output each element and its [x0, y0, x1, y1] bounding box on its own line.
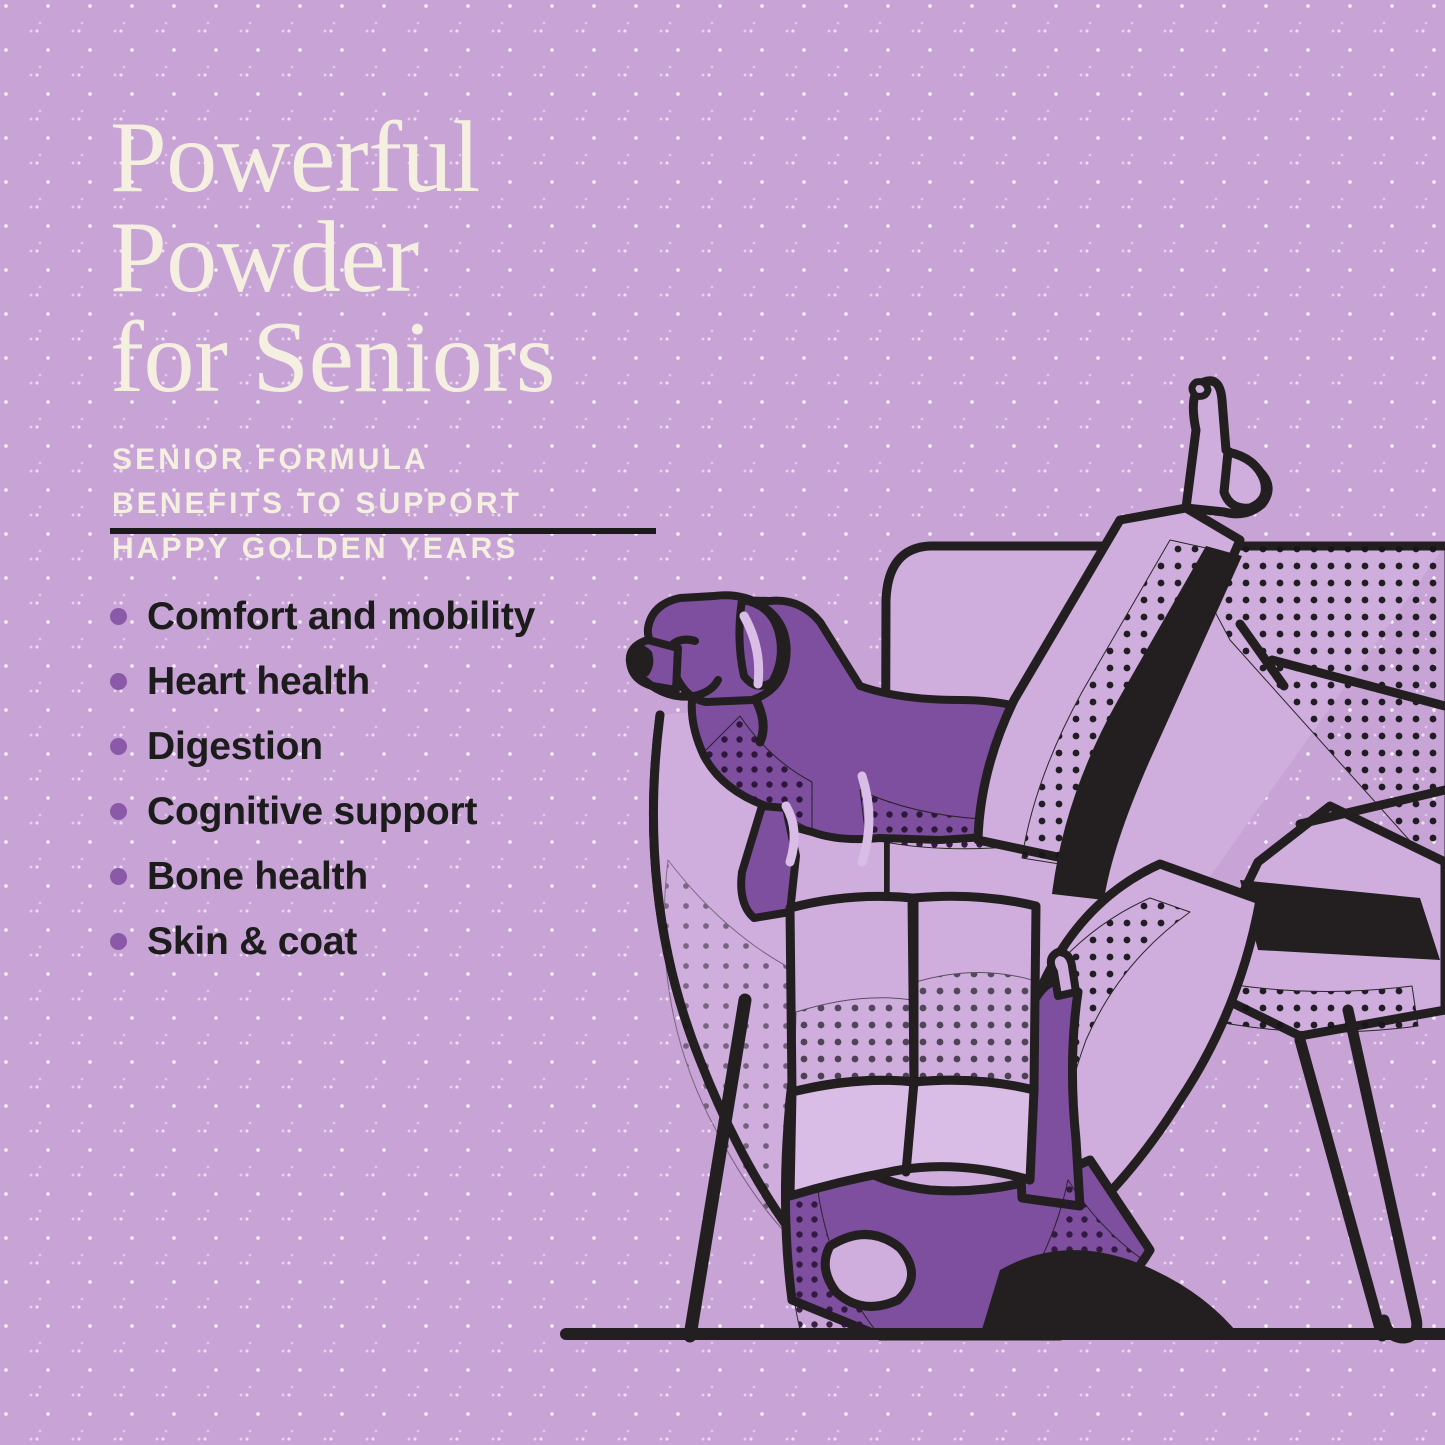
bullet-dot-icon	[110, 933, 127, 950]
list-item: Bone health	[110, 844, 730, 909]
benefit-label: Digestion	[147, 725, 323, 769]
list-item: Digestion	[110, 714, 730, 779]
benefit-label: Heart health	[147, 660, 370, 704]
bullet-dot-icon	[110, 608, 127, 625]
poster-canvas: Powerful Powder for Seniors SENIOR FORMU…	[0, 0, 1445, 1445]
bullet-dot-icon	[110, 673, 127, 690]
bullet-dot-icon	[110, 868, 127, 885]
benefits-list: Comfort and mobility Heart health Digest…	[110, 584, 730, 974]
text-block: Powerful Powder for Seniors SENIOR FORMU…	[110, 108, 720, 571]
subheadline: SENIOR FORMULA BENEFITS TO SUPPORT HAPPY…	[112, 438, 720, 571]
divider-rule	[110, 528, 656, 534]
list-item: Cognitive support	[110, 779, 730, 844]
benefit-label: Bone health	[147, 855, 368, 899]
benefit-label: Comfort and mobility	[147, 595, 535, 639]
list-item: Comfort and mobility	[110, 584, 730, 649]
bullet-dot-icon	[110, 803, 127, 820]
benefit-label: Skin & coat	[147, 920, 357, 964]
list-item: Skin & coat	[110, 909, 730, 974]
bullet-dot-icon	[110, 738, 127, 755]
page-title: Powerful Powder for Seniors	[110, 108, 720, 408]
benefit-label: Cognitive support	[147, 790, 477, 834]
list-item: Heart health	[110, 649, 730, 714]
